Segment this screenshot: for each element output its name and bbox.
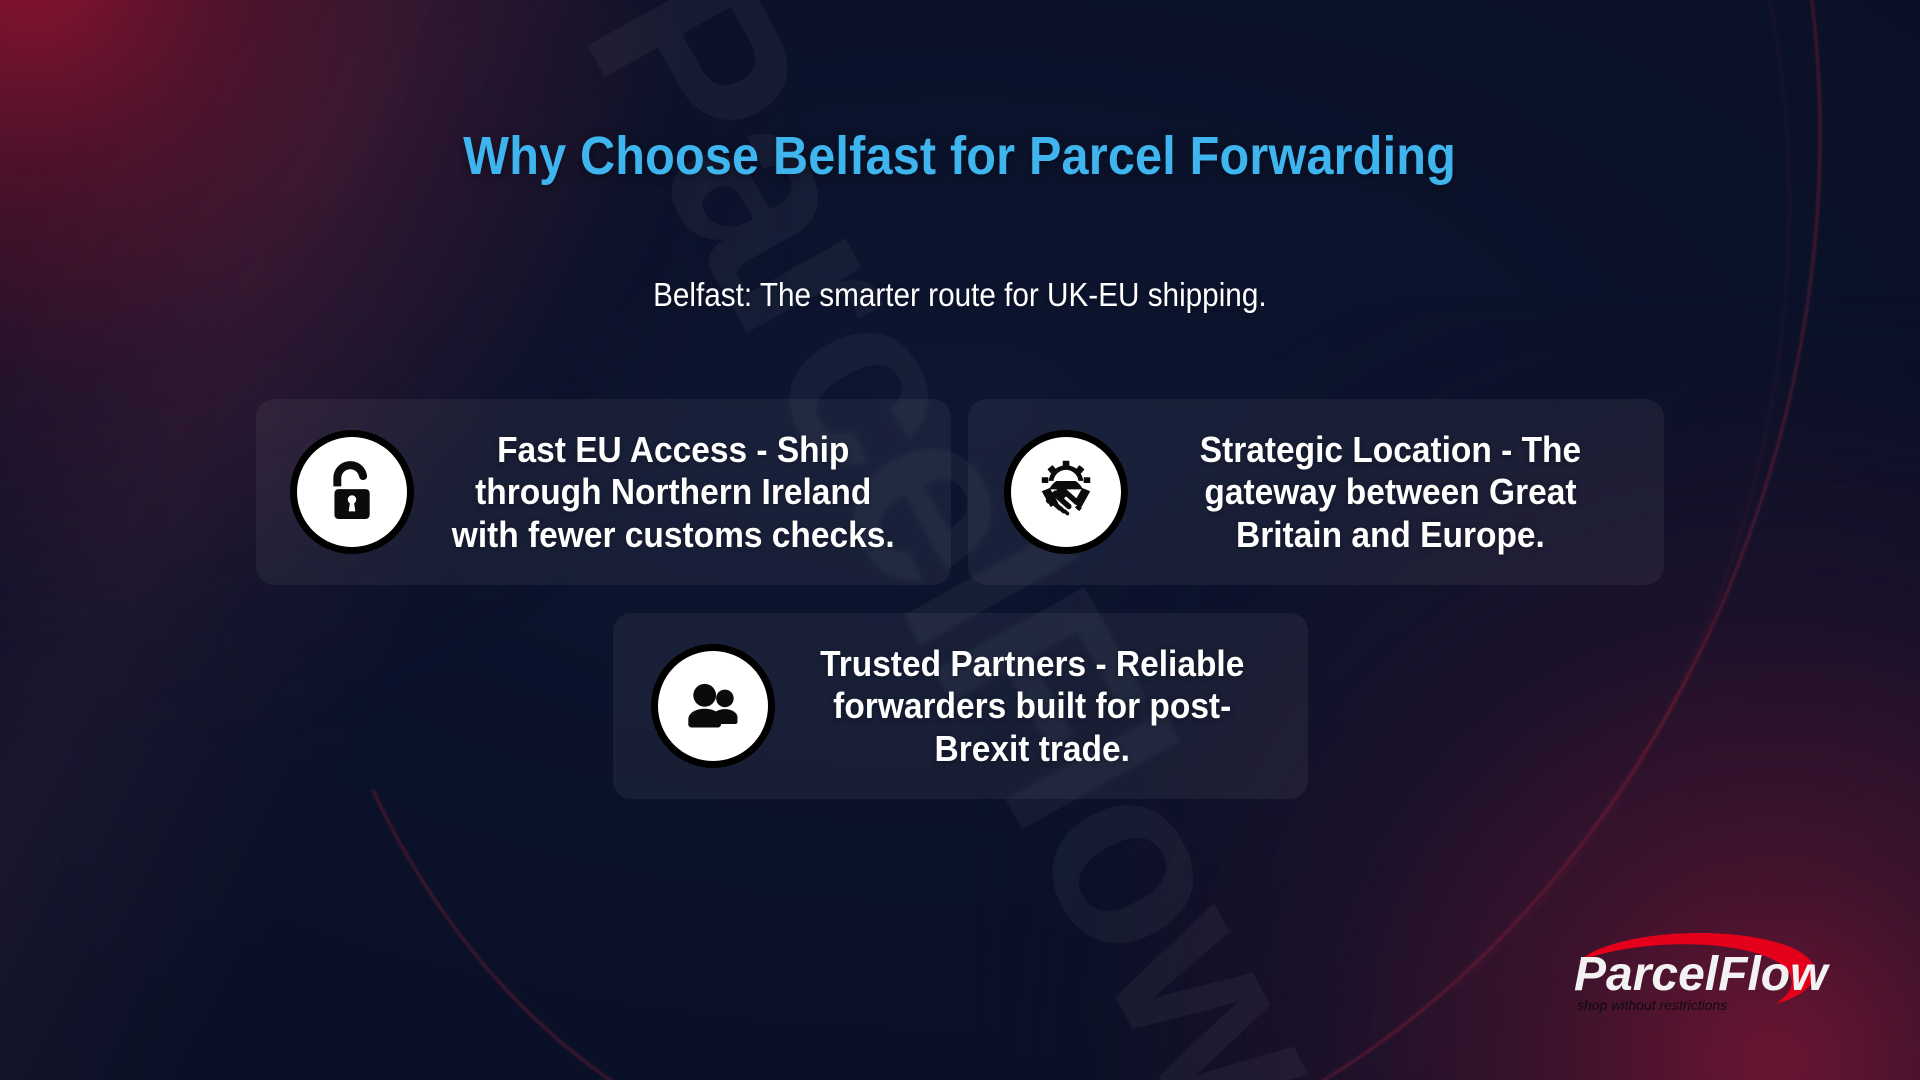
logo-wordmark: ParcelFlow	[1574, 948, 1830, 1001]
slide-content: Why Choose Belfast for Parcel Forwarding…	[0, 0, 1920, 1080]
feature-cards-row-bottom: Trusted Partners - Reliable forwarders b…	[0, 613, 1920, 799]
feature-card-trusted-partners[interactable]: Trusted Partners - Reliable forwarders b…	[613, 613, 1308, 799]
slide-canvas: ParcelFlow Why Choose Belfast for Parcel…	[0, 0, 1920, 1080]
feature-card-text: Trusted Partners - Reliable forwarders b…	[792, 643, 1264, 770]
slide-subtitle: Belfast: The smarter route for UK-EU shi…	[653, 275, 1267, 315]
unlock-padlock-icon	[290, 430, 414, 554]
feature-cards-row-top: Fast EU Access - Ship through Northern I…	[0, 399, 1920, 585]
feature-card-strategic-location[interactable]: Strategic Location - The gateway between…	[968, 399, 1664, 585]
slide-title: Why Choose Belfast for Parcel Forwarding	[464, 128, 1457, 185]
logo-tagline: shop without restrictions	[1577, 997, 1727, 1013]
feature-card-text: Strategic Location - The gateway between…	[1146, 429, 1620, 556]
people-group-icon	[651, 644, 775, 768]
parcelflow-logo: ParcelFlow shop without restrictions	[1570, 926, 1870, 1022]
handshake-gear-icon	[1004, 430, 1128, 554]
feature-card-fast-eu-access[interactable]: Fast EU Access - Ship through Northern I…	[256, 399, 951, 585]
feature-card-text: Fast EU Access - Ship through Northern I…	[432, 429, 907, 556]
